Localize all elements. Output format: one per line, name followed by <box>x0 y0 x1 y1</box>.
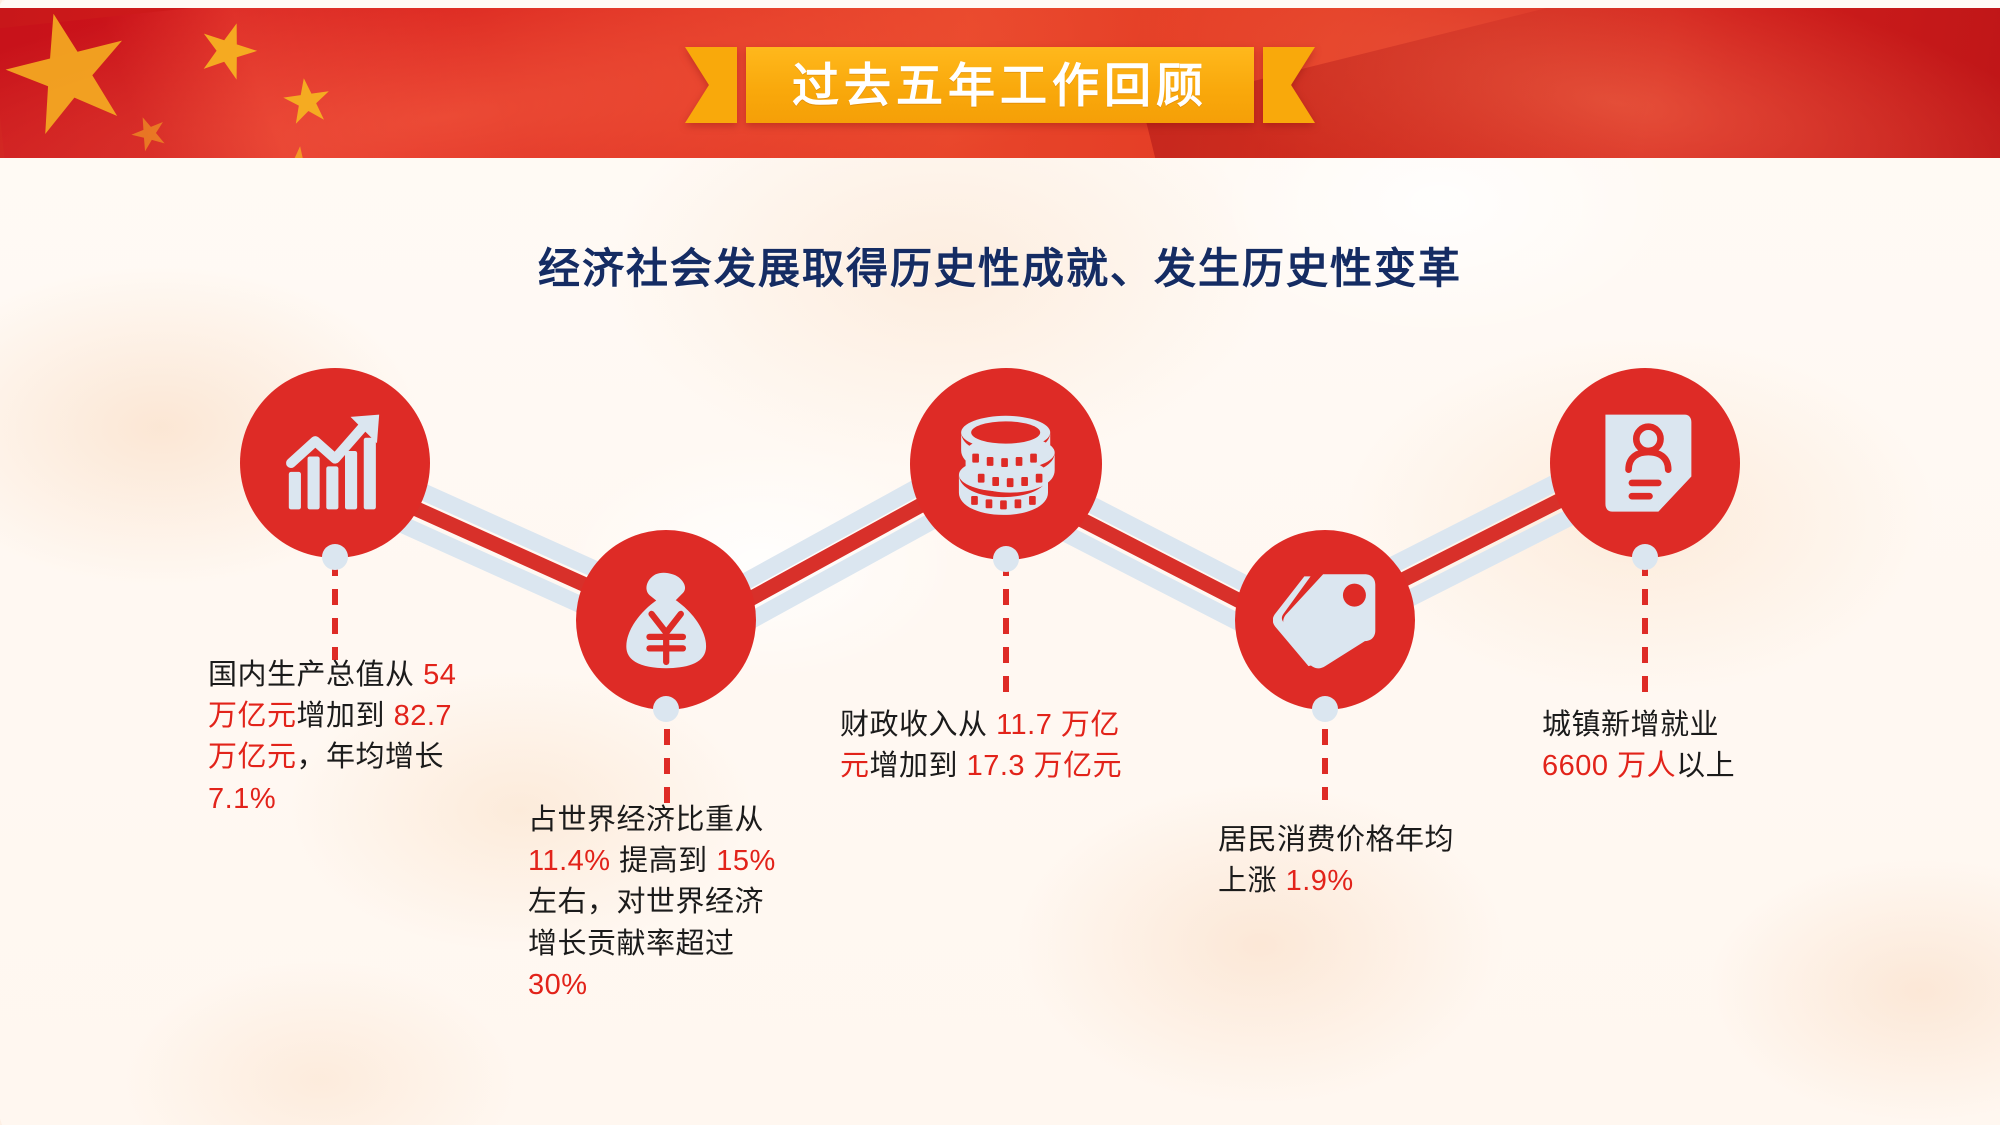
caption-metric-value: 17.3 万亿元 <box>967 750 1123 782</box>
milestone-caption-3: 财政收入从 11.7 万亿元增加到 17.3 万亿元 <box>840 705 1140 787</box>
price-tag-icon <box>1273 568 1377 672</box>
resume-document-icon <box>1590 408 1700 518</box>
caption-metric-value: 1.9% <box>1286 865 1354 897</box>
ribbon-tail-left <box>685 47 737 123</box>
caption-text: 占世界经济比重从 <box>528 804 764 836</box>
coin-stack-icon <box>950 408 1061 519</box>
node-anchor-dot <box>1312 696 1338 722</box>
node-anchor-dot <box>653 696 679 722</box>
caption-metric-value: 11.4% <box>528 845 611 877</box>
money-bag-yuan-icon <box>614 568 718 672</box>
milestone-node-5[interactable] <box>1550 368 1740 558</box>
ribbon-body: 过去五年工作回顾 <box>746 47 1254 123</box>
bar-chart-growth-icon <box>280 408 390 518</box>
milestone-node-3[interactable] <box>910 368 1102 560</box>
page-title: 过去五年工作回顾 <box>792 62 1208 109</box>
infographic-slide: 过去五年工作回顾 经济社会发展取得历史性成就、发生历史性变革 <box>0 0 2000 1125</box>
milestone-node-4[interactable] <box>1235 530 1415 710</box>
milestone-caption-5: 城镇新增就业 6600 万人以上 <box>1542 705 1772 787</box>
caption-text: 财政收入从 <box>840 709 996 741</box>
section-subtitle: 经济社会发展取得历史性成就、发生历史性变革 <box>0 235 2000 296</box>
caption-text: 左右，对世界经济增长贡献率超过 <box>528 886 764 959</box>
caption-text: 增加到 <box>297 700 394 732</box>
milestone-caption-4: 居民消费价格年均上涨 1.9% <box>1218 820 1470 902</box>
caption-text: ，年均增长 <box>297 741 445 773</box>
caption-metric-value: 30% <box>528 969 588 1001</box>
caption-text: 城镇新增就业 <box>1542 709 1719 741</box>
caption-text: 增加到 <box>870 750 967 782</box>
node-anchor-dot <box>322 544 348 570</box>
milestone-caption-2: 占世界经济比重从 11.4% 提高到 15% 左右，对世界经济增长贡献率超过 3… <box>528 800 790 1006</box>
milestone-node-1[interactable] <box>240 368 430 558</box>
caption-metric-value: 15% <box>716 845 776 877</box>
ribbon-tail-right <box>1263 47 1315 123</box>
node-anchor-dot <box>993 546 1019 572</box>
title-ribbon: 过去五年工作回顾 <box>685 47 1315 123</box>
ribbon-gap-right <box>1254 47 1263 123</box>
milestone-caption-1: 国内生产总值从 54 万亿元增加到 82.7 万亿元，年均增长 7.1% <box>208 655 466 820</box>
caption-text: 以上 <box>1676 750 1735 782</box>
caption-text: 提高到 <box>611 845 717 877</box>
caption-text: 国内生产总值从 <box>208 659 423 691</box>
caption-metric-value: 6600 万人 <box>1542 750 1676 782</box>
ribbon-gap-left <box>737 47 746 123</box>
node-anchor-dot <box>1632 544 1658 570</box>
milestone-node-2[interactable] <box>576 530 756 710</box>
caption-metric-value: 7.1% <box>208 783 276 815</box>
